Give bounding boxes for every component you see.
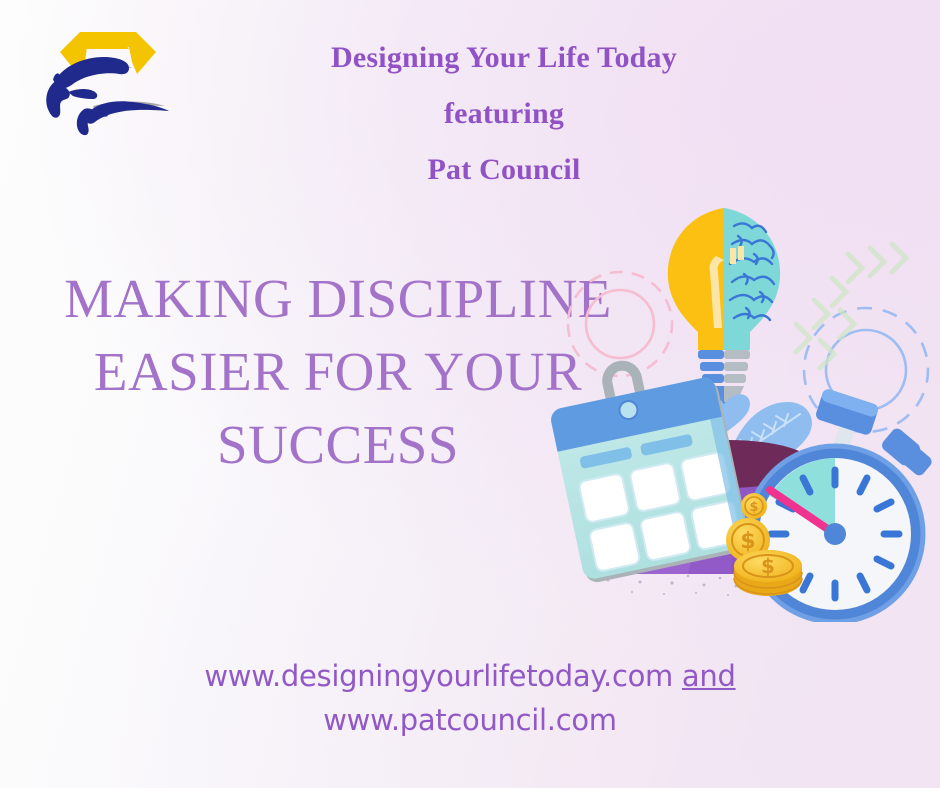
svg-text:$: $ bbox=[749, 500, 758, 515]
show-header: Designing Your Life Today featuring Pat … bbox=[216, 30, 792, 198]
brand-logo[interactable] bbox=[33, 18, 173, 140]
jumping-horse-diamond-icon bbox=[33, 18, 173, 140]
footer-line-1: www.designingyourlifetoday.com and bbox=[70, 654, 870, 698]
footer-line-2: www.patcouncil.com bbox=[70, 698, 870, 742]
footer-conjunction: and bbox=[682, 659, 736, 693]
url-secondary[interactable]: www.patcouncil.com bbox=[323, 703, 617, 737]
title-line-2: EASIER FOR YOUR bbox=[52, 335, 624, 408]
title-line-1: MAKING DISCIPLINE bbox=[52, 262, 624, 335]
mindset-growth-illustration: $ $ $ bbox=[548, 182, 940, 622]
header-line-title: Designing Your Life Today bbox=[216, 30, 792, 86]
page-title: MAKING DISCIPLINE EASIER FOR YOUR SUCCES… bbox=[52, 262, 624, 481]
header-line-featuring: featuring bbox=[216, 86, 792, 142]
footer-urls: www.designingyourlifetoday.com and www.p… bbox=[70, 654, 870, 742]
poster-canvas: Designing Your Life Today featuring Pat … bbox=[0, 0, 940, 788]
title-line-3: SUCCESS bbox=[52, 408, 624, 481]
svg-text:$: $ bbox=[761, 554, 775, 578]
gear-outline-pink-icon bbox=[568, 272, 672, 376]
svg-text:$: $ bbox=[740, 529, 755, 554]
foliage-sprigs-icon bbox=[796, 244, 906, 368]
url-primary[interactable]: www.designingyourlifetoday.com bbox=[204, 659, 673, 693]
